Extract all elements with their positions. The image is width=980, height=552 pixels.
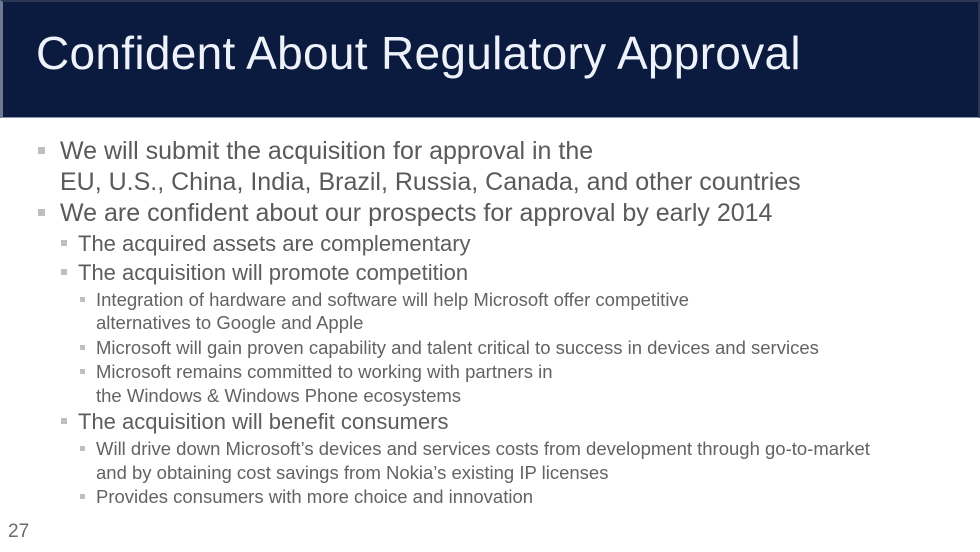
page-number: 27 (8, 521, 29, 543)
bullet-level2: The acquisition will promote competition (0, 259, 980, 287)
bullet-text-line: Will drive down Microsoft’s devices and … (96, 437, 980, 461)
bullet-text-line: Provides consumers with more choice and … (96, 485, 980, 509)
bullet-square-icon (38, 209, 45, 216)
bullet-square-icon (61, 418, 67, 424)
bullet-level3: Microsoft will gain proven capability an… (0, 336, 980, 360)
bullet-text-line: Microsoft remains committed to working w… (96, 360, 980, 384)
bullet-text-line: Microsoft will gain proven capability an… (96, 336, 980, 360)
bullet-text-line: EU, U.S., China, India, Brazil, Russia, … (60, 167, 980, 198)
bullet-level3: Provides consumers with more choice and … (0, 485, 980, 509)
bullet-text-line: and by obtaining cost savings from Nokia… (96, 461, 980, 485)
bullet-square-icon (80, 345, 85, 350)
page-title: Confident About Regulatory Approval (36, 22, 801, 84)
slide: Confident About Regulatory Approval We w… (0, 0, 980, 552)
slide-body: We will submit the acquisition for appro… (0, 118, 980, 552)
bullet-level2: The acquired assets are complementary (0, 230, 980, 258)
bullet-square-icon (38, 147, 45, 154)
bullet-text-line: Integration of hardware and software wil… (96, 288, 980, 312)
bullet-level3: Integration of hardware and software wil… (0, 288, 980, 335)
bullet-square-icon (80, 297, 85, 302)
bullet-level3: Microsoft remains committed to working w… (0, 360, 980, 407)
bullet-level3: Will drive down Microsoft’s devices and … (0, 437, 980, 484)
bullet-level2: The acquisition will benefit consumers (0, 408, 980, 436)
bullet-list: We will submit the acquisition for appro… (0, 136, 980, 509)
bullet-text-line: The acquisition will benefit consumers (78, 408, 980, 436)
bullet-level1: We are confident about our prospects for… (0, 198, 980, 229)
bullet-level1: We will submit the acquisition for appro… (0, 136, 980, 197)
bullet-text-line: the Windows & Windows Phone ecosystems (96, 384, 980, 408)
bullet-text-line: The acquisition will promote competition (78, 259, 980, 287)
bullet-square-icon (80, 446, 85, 451)
bullet-text-line: The acquired assets are complementary (78, 230, 980, 258)
bullet-text-line: alternatives to Google and Apple (96, 311, 980, 335)
title-band: Confident About Regulatory Approval (0, 0, 980, 118)
bullet-square-icon (61, 269, 67, 275)
bullet-square-icon (80, 369, 85, 374)
bullet-text-line: We will submit the acquisition for appro… (60, 136, 980, 167)
bullet-text-line: We are confident about our prospects for… (60, 198, 980, 229)
bullet-square-icon (61, 240, 67, 246)
bullet-square-icon (80, 494, 85, 499)
